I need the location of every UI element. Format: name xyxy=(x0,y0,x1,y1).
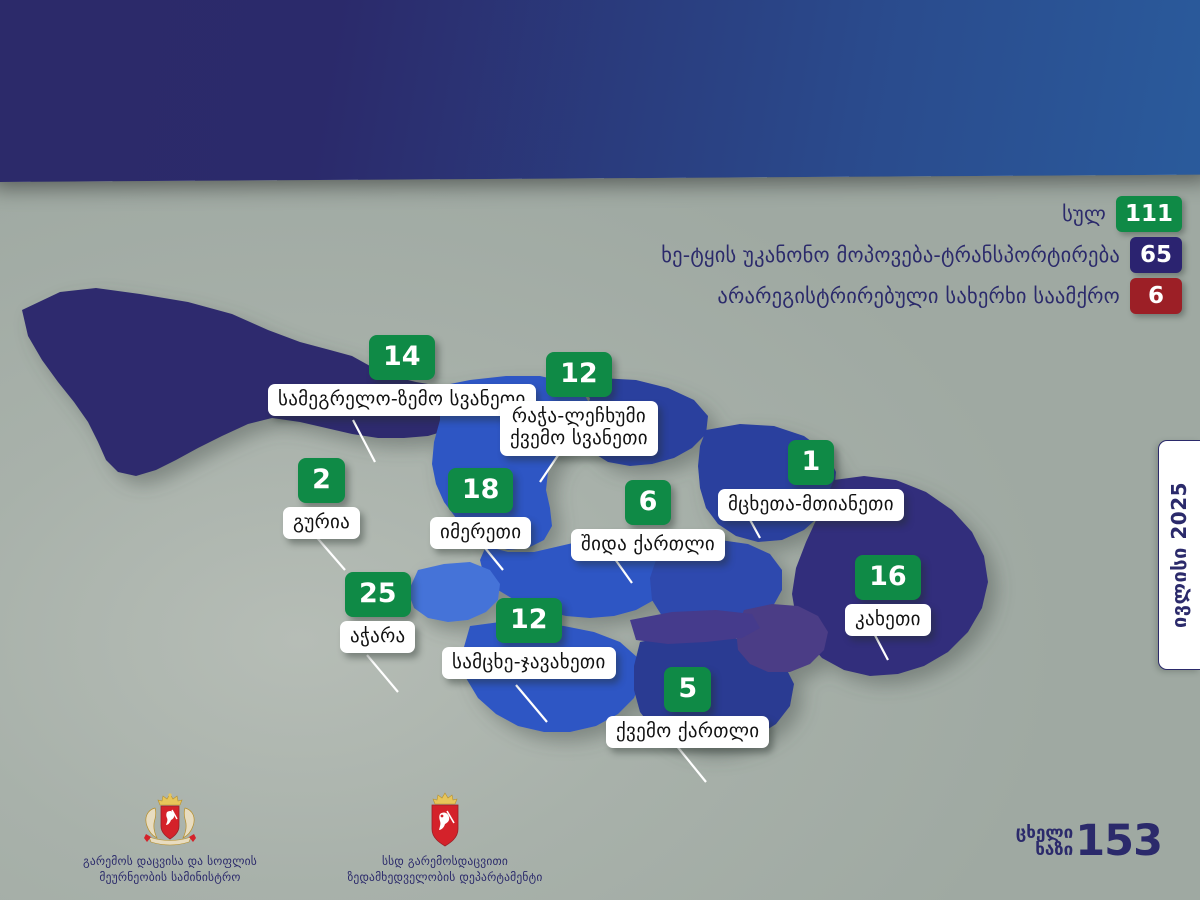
hotline-line1: ცხელი xyxy=(1016,825,1074,842)
org-department: სსდ გარემოსდაცვითი ზედამხედველობის დეპარ… xyxy=(300,792,590,886)
callout-label-guria: გურია xyxy=(283,507,360,539)
date-tab[interactable]: ივლისი 2025 xyxy=(1158,440,1200,670)
callout-value-mtskheta: 1 xyxy=(788,440,835,485)
callout-kakheti[interactable]: 16 კახეთი xyxy=(845,555,931,636)
callout-value-imereti: 18 xyxy=(448,468,514,513)
georgia-coat-of-arms-icon xyxy=(55,792,285,848)
infographic-canvas: უკანონო ტყითსარგებლობის სტატისტიკა სულ 1… xyxy=(0,0,1200,900)
callout-value-racha: 12 xyxy=(546,352,612,397)
legend-row-unregistered-sawmill: არარეგისტრირებული სახერხი საამქრო 6 xyxy=(717,278,1182,314)
callout-adjara[interactable]: 25 აჭარა xyxy=(340,572,415,653)
header-banner xyxy=(0,0,1200,182)
date-label: ივლისი 2025 xyxy=(1168,482,1192,628)
org-department-label: სსდ გარემოსდაცვითი ზედამხედველობის დეპარ… xyxy=(347,854,542,885)
hotline: ცხელი ხაზი 153 xyxy=(1016,823,1162,860)
callout-label-adjara: აჭარა xyxy=(340,621,415,653)
callout-shida-kartli[interactable]: 6 შიდა ქართლი xyxy=(571,480,725,561)
callout-label-samegrelo: სამეგრელო-ზემო სვანეთი xyxy=(268,384,536,416)
footer: გარემოს დაცვისა და სოფლის მეურნეობის სამ… xyxy=(0,780,1200,900)
hotline-line2: ხაზი xyxy=(1016,842,1074,859)
callout-kvemo-kartli[interactable]: 5 ქვემო ქართლი xyxy=(606,667,769,748)
callout-value-kvemo-kartli: 5 xyxy=(664,667,711,712)
callout-samegrelo-zemo-svaneti[interactable]: 14 სამეგრელო-ზემო სვანეთი xyxy=(268,335,536,416)
callout-racha-lechkhumi[interactable]: 12 რაჭა-ლეჩხუმი ქვემო სვანეთი xyxy=(500,352,658,456)
legend: სულ 111 ხე-ტყის უკანონო მოპოვება-ტრანსპო… xyxy=(661,196,1182,314)
callout-label-racha: რაჭა-ლეჩხუმი ქვემო სვანეთი xyxy=(500,401,658,456)
callout-value-guria: 2 xyxy=(298,458,345,503)
callout-label-shida-kartli: შიდა ქართლი xyxy=(571,529,725,561)
legend-badge-unregistered-sawmill: 6 xyxy=(1130,278,1182,314)
callout-samtskhe-javakheti[interactable]: 12 სამცხე-ჯავახეთი xyxy=(442,598,616,679)
callout-value-adjara: 25 xyxy=(345,572,411,617)
callout-value-shida-kartli: 6 xyxy=(625,480,672,525)
legend-row-total: სულ 111 xyxy=(1062,196,1182,232)
org-ministry: გარემოს დაცვისა და სოფლის მეურნეობის სამ… xyxy=(55,792,285,886)
callout-imereti[interactable]: 18 იმერეთი xyxy=(430,468,531,549)
callout-label-samtskhe: სამცხე-ჯავახეთი xyxy=(442,647,616,679)
callout-value-samegrelo: 14 xyxy=(369,335,435,380)
callout-guria[interactable]: 2 გურია xyxy=(283,458,360,539)
org-ministry-label: გარემოს დაცვისა და სოფლის მეურნეობის სამ… xyxy=(83,854,257,885)
legend-label-unregistered-sawmill: არარეგისტრირებული სახერხი საამქრო xyxy=(717,284,1120,308)
department-emblem-icon xyxy=(300,792,590,848)
legend-badge-total: 111 xyxy=(1116,196,1182,232)
hotline-number: 153 xyxy=(1075,823,1162,860)
callout-value-samtskhe: 12 xyxy=(496,598,562,643)
legend-label-total: სულ xyxy=(1062,202,1106,226)
hotline-words: ცხელი ხაზი xyxy=(1016,825,1074,859)
callout-label-kakheti: კახეთი xyxy=(845,604,931,636)
legend-row-illegal-logging: ხე-ტყის უკანონო მოპოვება-ტრანსპორტირება … xyxy=(661,237,1182,273)
callout-label-mtskheta: მცხეთა-მთიანეთი xyxy=(718,489,904,521)
legend-label-illegal-logging: ხე-ტყის უკანონო მოპოვება-ტრანსპორტირება xyxy=(661,243,1120,267)
callout-label-kvemo-kartli: ქვემო ქართლი xyxy=(606,716,769,748)
callout-mtskheta-mtianeti[interactable]: 1 მცხეთა-მთიანეთი xyxy=(718,440,904,521)
callout-value-kakheti: 16 xyxy=(855,555,921,600)
legend-badge-illegal-logging: 65 xyxy=(1130,237,1182,273)
callout-label-imereti: იმერეთი xyxy=(430,517,531,549)
